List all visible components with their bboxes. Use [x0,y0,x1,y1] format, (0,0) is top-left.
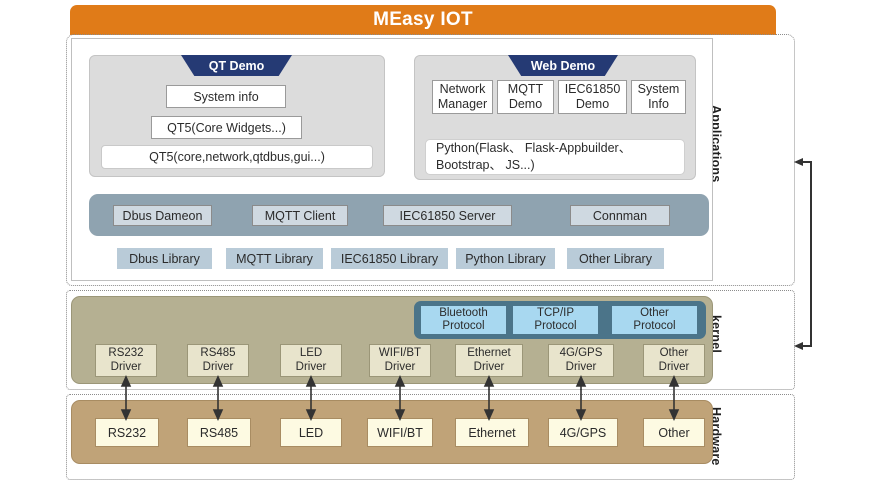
driver-line1: Ethernet [467,347,510,360]
driver-ethernet[interactable]: Ethernet Driver [455,344,523,377]
web-demo-item-line1: Network [440,82,486,96]
service-mqtt-client[interactable]: MQTT Client [252,205,348,226]
web-demo-item-system-info[interactable]: System Info [631,80,686,114]
service-dbus-daemon[interactable]: Dbus Dameon [113,205,212,226]
hardware-ethernet[interactable]: Ethernet [455,418,529,447]
driver-line2: Driver [566,361,597,374]
library-python[interactable]: Python Library [456,248,555,269]
web-demo-item-line1: IEC61850 [565,82,621,96]
hardware-wifi-bt[interactable]: WIFI/BT [367,418,433,447]
driver-line2: Driver [111,361,142,374]
driver-other[interactable]: Other Driver [643,344,705,377]
qt-demo-banner: QT Demo [181,55,292,76]
applications-kernel-bracket-arrow [793,158,815,350]
web-demo-item-mqtt-demo[interactable]: MQTT Demo [497,80,554,114]
web-demo-item-line2: Demo [509,97,542,111]
web-demo-item-line2: Manager [438,97,487,111]
service-connman[interactable]: Connman [570,205,670,226]
protocol-line2: Protocol [442,320,484,333]
web-demo-item-line2: Demo [576,97,609,111]
hardware-rs485[interactable]: RS485 [187,418,251,447]
driver-rs485[interactable]: RS485 Driver [187,344,249,377]
web-demo-item-line1: MQTT [508,82,543,96]
driver-led[interactable]: LED Driver [280,344,342,377]
web-demo-item-line2: Info [648,97,669,111]
hardware-4g-gps[interactable]: 4G/GPS [548,418,618,447]
web-demo-item-line1: System [638,82,680,96]
protocol-bluetooth[interactable]: Bluetooth Protocol [421,306,506,334]
driver-line1: LED [300,347,322,360]
protocol-line1: Other [640,307,669,320]
qt-demo-item-qt5-stack[interactable]: QT5(core,network,qtdbus,gui...) [101,145,373,169]
hardware-other[interactable]: Other [643,418,705,447]
driver-rs232[interactable]: RS232 Driver [95,344,157,377]
web-demo-banner: Web Demo [508,55,618,76]
driver-line2: Driver [474,361,505,374]
protocol-line1: TCP/IP [537,307,574,320]
driver-line2: Driver [659,361,690,374]
qt-demo-item-core-widgets[interactable]: QT5(Core Widgets...) [151,116,302,139]
driver-line1: WIFI/BT [379,347,421,360]
protocol-other[interactable]: Other Protocol [612,306,697,334]
library-iec61850[interactable]: IEC61850 Library [331,248,448,269]
library-dbus[interactable]: Dbus Library [117,248,212,269]
service-iec61850-server[interactable]: IEC61850 Server [383,205,512,226]
web-demo-python-stack[interactable]: Python(Flask、 Flask-Appbuilder、 Bootstra… [425,139,685,175]
protocol-line1: Bluetooth [439,307,488,320]
architecture-diagram: MEasy IOT Applications kernel Hardware Q… [0,0,879,486]
driver-line1: RS485 [200,347,235,360]
driver-4g-gps[interactable]: 4G/GPS Driver [548,344,614,377]
hardware-rs232[interactable]: RS232 [95,418,159,447]
hardware-led[interactable]: LED [280,418,342,447]
driver-wifi-bt[interactable]: WIFI/BT Driver [369,344,431,377]
web-demo-item-iec61850-demo[interactable]: IEC61850 Demo [558,80,627,114]
driver-line1: Other [660,347,689,360]
page-title: MEasy IOT [373,9,473,31]
protocol-line2: Protocol [633,320,675,333]
diagram-title-bar: MEasy IOT [70,5,776,35]
driver-line2: Driver [203,361,234,374]
driver-line1: 4G/GPS [560,347,603,360]
web-demo-item-network-manager[interactable]: Network Manager [432,80,493,114]
driver-line2: Driver [385,361,416,374]
driver-line2: Driver [296,361,327,374]
library-mqtt[interactable]: MQTT Library [226,248,323,269]
protocol-line2: Protocol [534,320,576,333]
driver-line1: RS232 [108,347,143,360]
library-other[interactable]: Other Library [567,248,664,269]
protocol-tcpip[interactable]: TCP/IP Protocol [513,306,598,334]
qt-demo-item-system-info[interactable]: System info [166,85,286,108]
